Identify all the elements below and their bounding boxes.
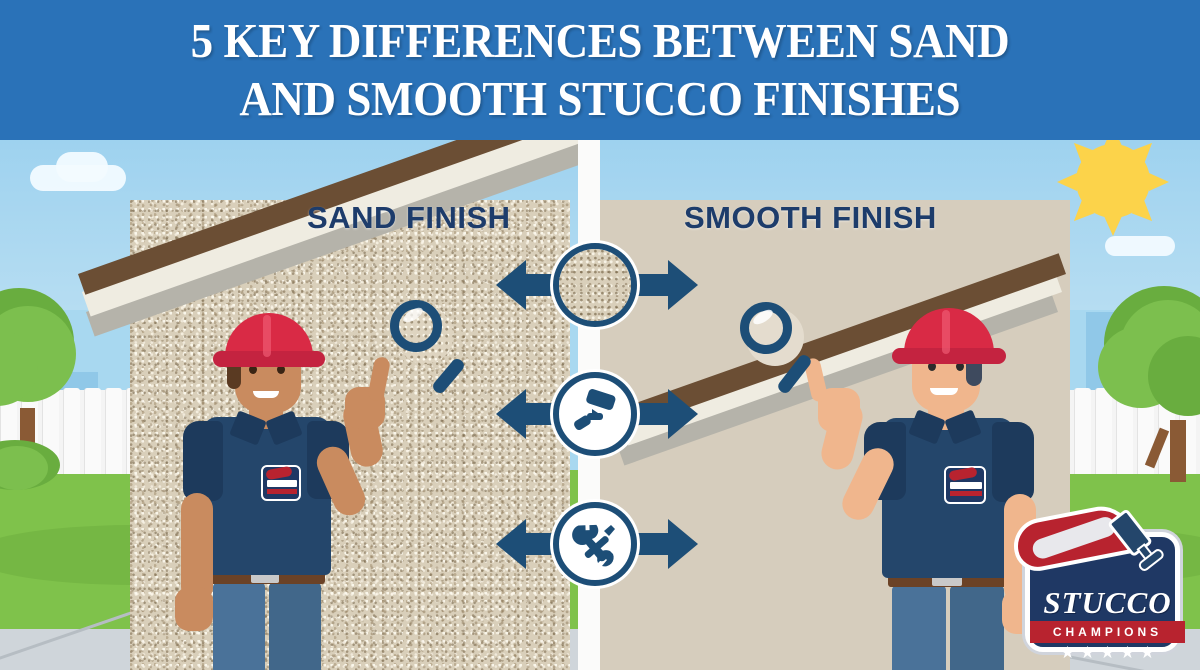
arrow-left-icon [496, 260, 526, 310]
smooth-finish-label: SMOOTH FINISH [684, 200, 937, 236]
header-title-line-1: 5 KEY DIFFERENCES BETWEEN SAND [191, 12, 1010, 70]
logo-brand-text: STUCCO [1030, 585, 1185, 621]
sun-ray [1057, 173, 1077, 191]
arrow-right-icon [668, 519, 698, 569]
worker-hand [175, 587, 213, 631]
arrow-left-icon [496, 389, 526, 439]
arrow-right-icon [668, 389, 698, 439]
sand-finish-label: SAND FINISH [307, 200, 511, 236]
shirt-logo-badge [944, 466, 986, 504]
shirt-logo-badge [261, 465, 301, 501]
arrow-right-icon [668, 260, 698, 310]
worker-leg [892, 586, 946, 670]
trowel-icon [1103, 504, 1179, 580]
worker-leg [269, 583, 321, 670]
cloud-icon [56, 152, 108, 182]
paint-roller-icon[interactable] [553, 372, 637, 456]
sun-ray [1104, 216, 1122, 236]
arrow-left-icon [496, 519, 526, 569]
sun-ray [1149, 173, 1169, 191]
header-banner: 5 KEY DIFFERENCES BETWEEN SAND AND SMOOT… [0, 0, 1200, 140]
paint-roller-glyph [568, 387, 622, 441]
brand-logo[interactable]: STUCCO CHAMPIONS ★ ★ ★ ★ ★ [1007, 502, 1192, 662]
logo-stars: ★ ★ ★ ★ ★ [1030, 643, 1185, 663]
worker-leg [950, 586, 1004, 670]
wrench-screwdriver-glyph [568, 517, 622, 571]
sun-icon [1076, 144, 1150, 218]
header-title-line-2: AND SMOOTH STUCCO FINISHES [240, 70, 961, 128]
worker-leg [213, 583, 265, 670]
texture-swatch [559, 249, 631, 321]
logo-tagline-text: CHAMPIONS [1053, 625, 1162, 639]
texture-magnifier-icon[interactable] [553, 243, 637, 327]
comparison-row-texture [0, 243, 1200, 327]
tools-icon[interactable] [553, 502, 637, 586]
comparison-row-application [0, 372, 1200, 456]
logo-tagline-band: CHAMPIONS [1030, 621, 1185, 643]
infographic-canvas: 5 KEY DIFFERENCES BETWEEN SAND AND SMOOT… [0, 0, 1200, 670]
